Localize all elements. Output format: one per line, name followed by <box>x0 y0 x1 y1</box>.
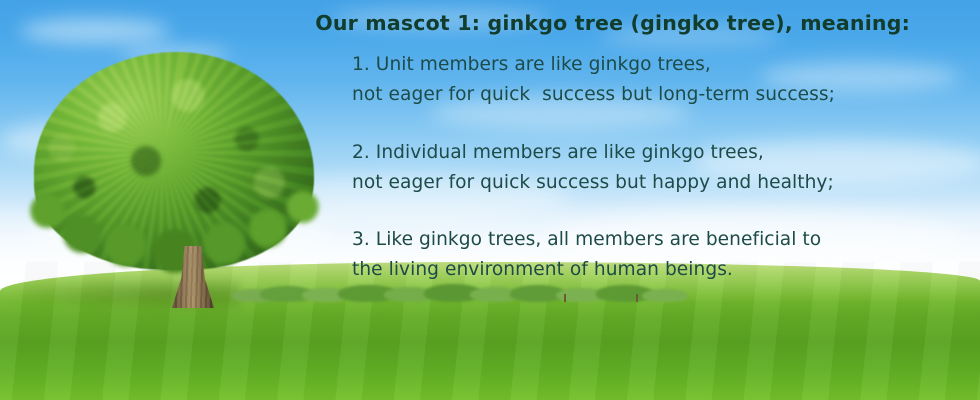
paragraph-2-line-2: not eager for quick success but happy an… <box>352 168 972 198</box>
paragraph-2-line-1: 2. Individual members are like ginkgo tr… <box>352 138 972 168</box>
paragraph-3: 3. Like ginkgo trees, all members are be… <box>352 225 972 285</box>
banner-title: Our mascot 1: ginkgo tree (gingko tree),… <box>0 11 910 35</box>
paragraph-1-line-2: not eager for quick success but long-ter… <box>352 80 972 110</box>
mascot-banner: Our mascot 1: ginkgo tree (gingko tree),… <box>0 0 980 400</box>
paragraph-3-line-1: 3. Like ginkgo trees, all members are be… <box>352 225 972 255</box>
paragraph-3-line-2: the living environment of human beings. <box>352 255 972 285</box>
paragraph-1: 1. Unit members are like ginkgo trees, n… <box>352 50 972 110</box>
banner-text-block: Our mascot 1: ginkgo tree (gingko tree),… <box>0 0 980 300</box>
paragraph-1-line-1: 1. Unit members are like ginkgo trees, <box>352 50 972 80</box>
paragraph-2: 2. Individual members are like ginkgo tr… <box>352 138 972 198</box>
